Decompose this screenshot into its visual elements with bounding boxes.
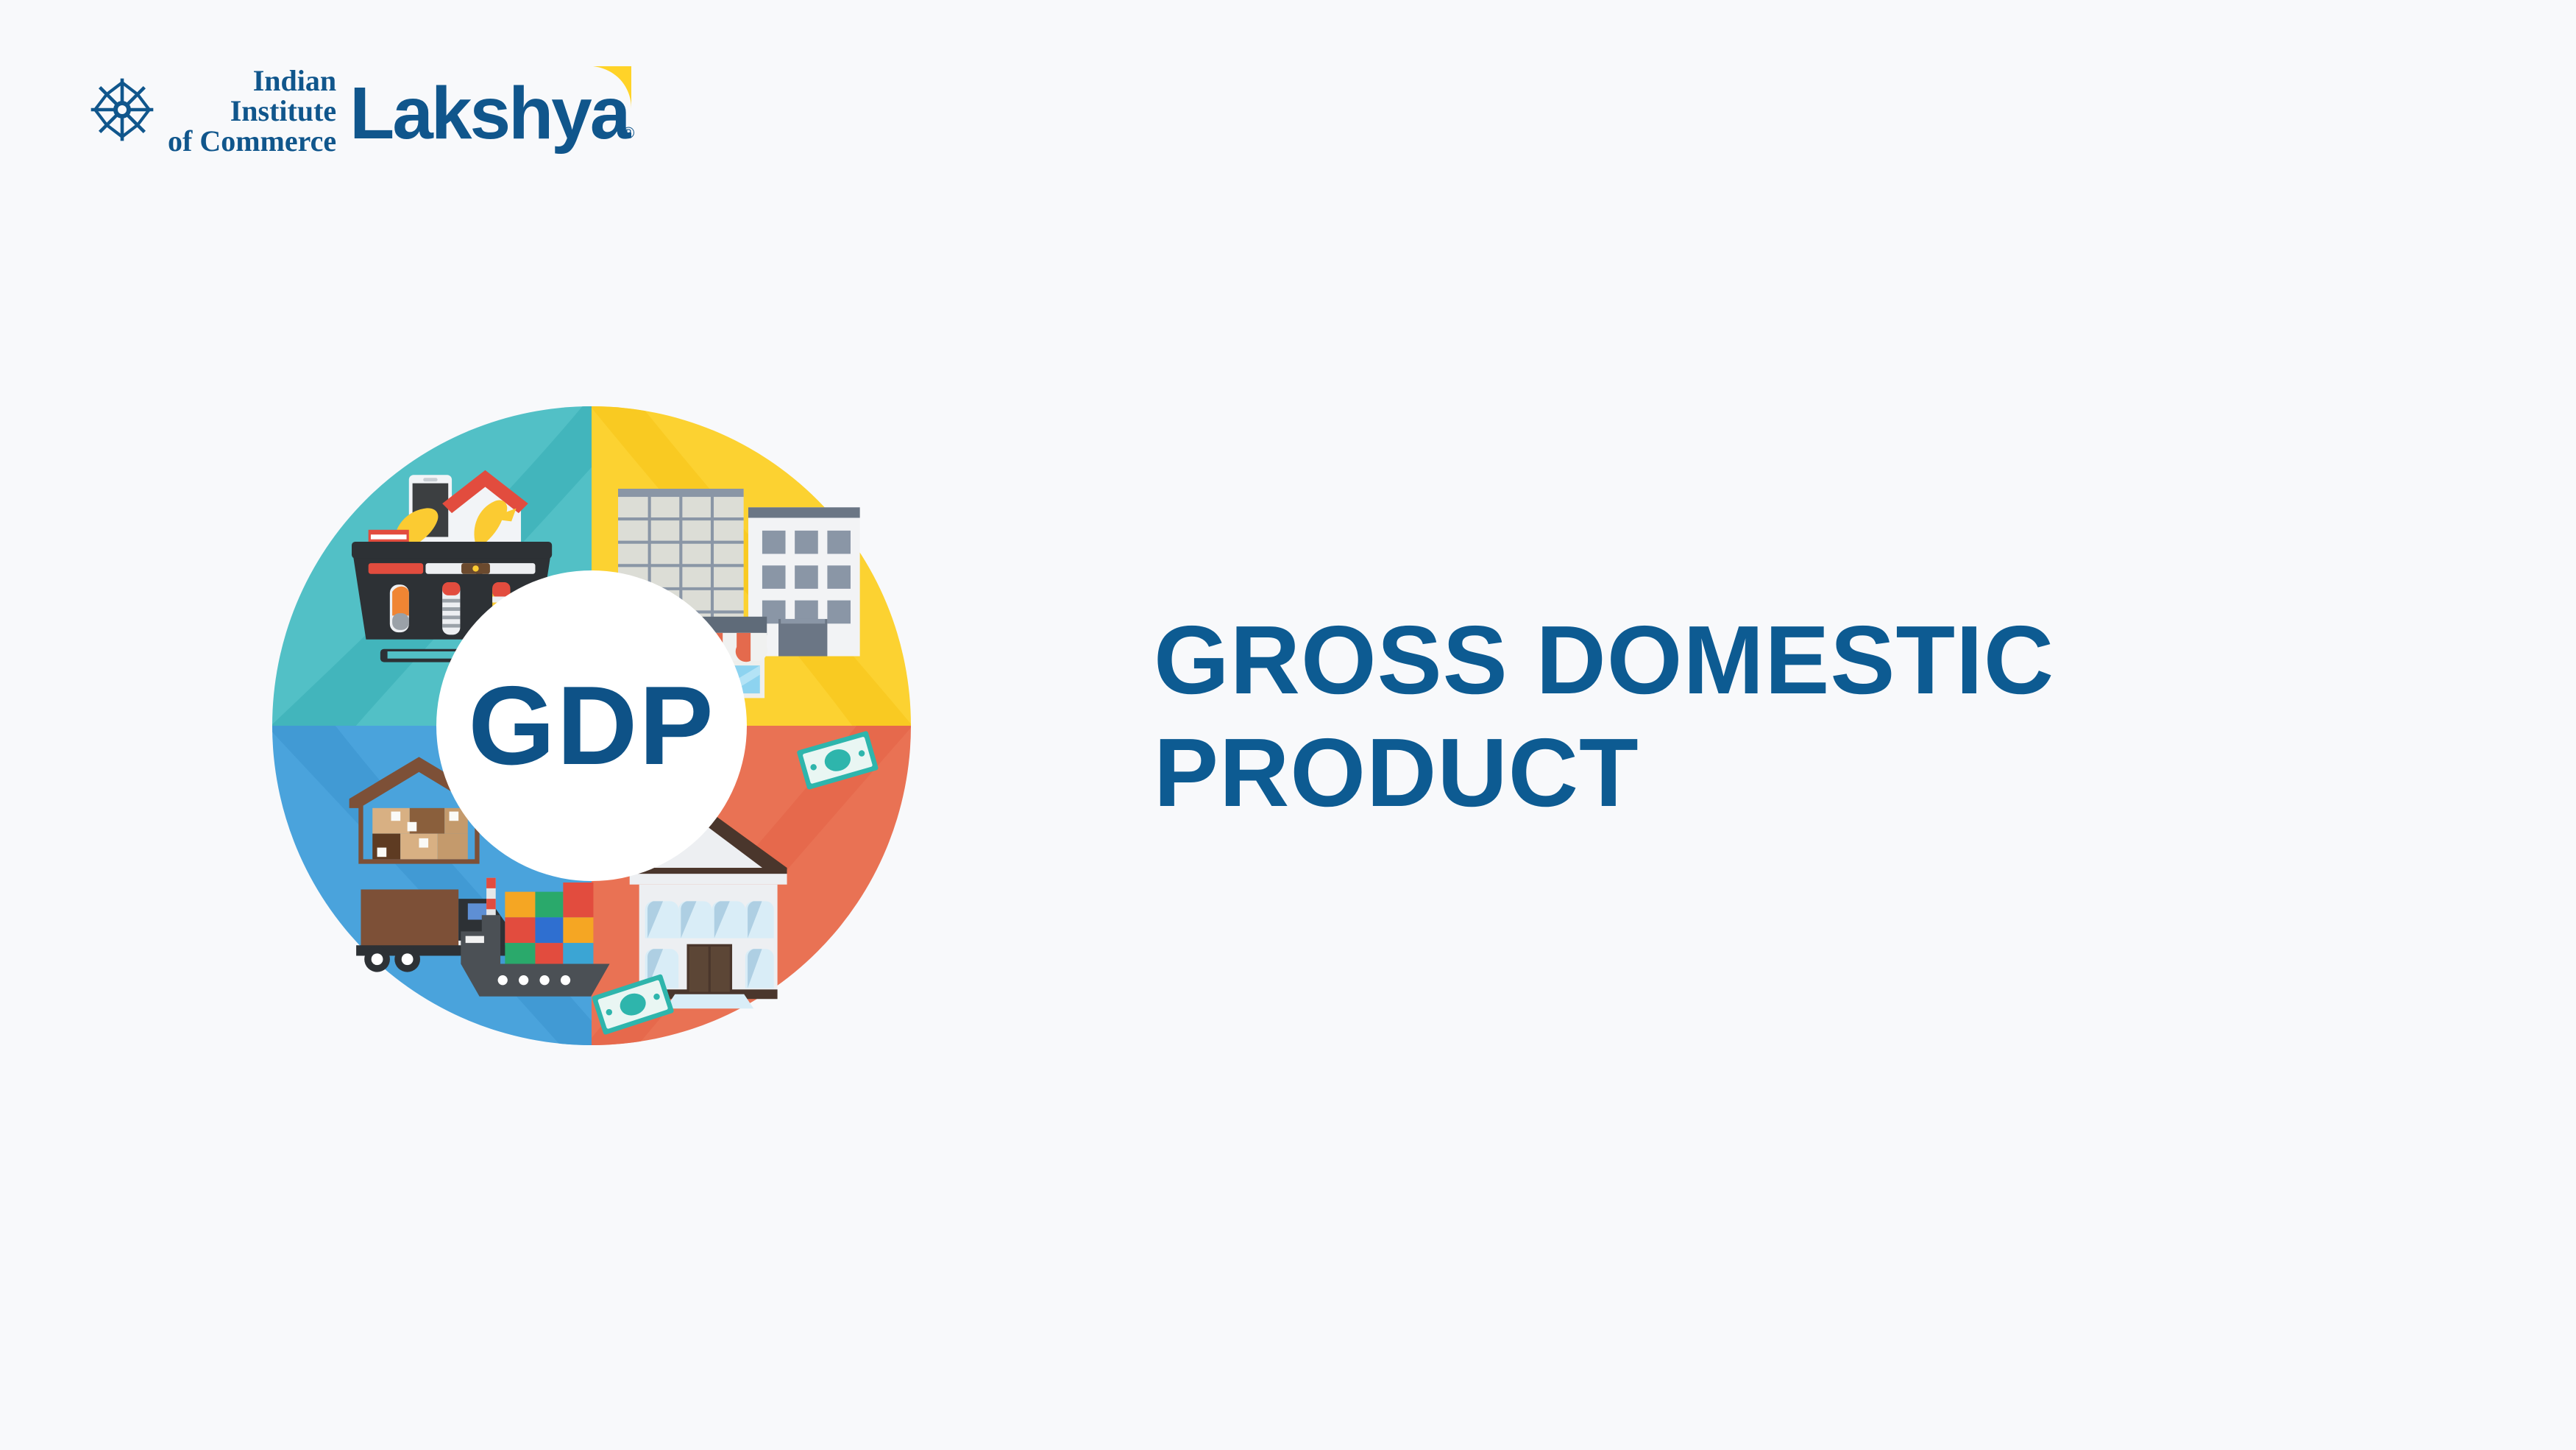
donut-center-hole [436, 570, 747, 881]
institute-line-3: of Commerce [168, 126, 336, 156]
gdp-donut-chart: GDP [272, 406, 911, 1045]
registered-trademark-icon: ® [622, 124, 634, 143]
lakshya-brand-text: Lakshya [350, 77, 628, 150]
brand-logo: Indian Institute of Commerce Lakshya ® [88, 63, 628, 157]
starburst-icon [88, 76, 156, 144]
page-title: GROSS DOMESTIC PRODUCT [1154, 604, 2405, 829]
institute-line-2: Institute [168, 96, 336, 126]
yellow-swoosh-icon [592, 65, 633, 110]
lakshya-brandmark: Lakshya ® [350, 69, 628, 150]
institute-line-1: Indian [168, 66, 336, 96]
institute-wordmark: Indian Institute of Commerce [168, 63, 336, 157]
